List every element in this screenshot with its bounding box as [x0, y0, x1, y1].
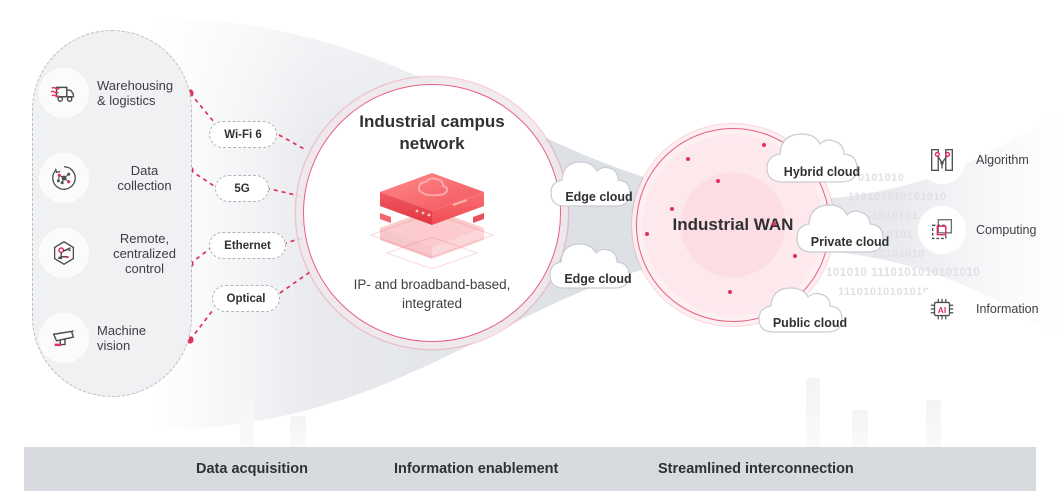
- cloud-edge-1[interactable]: Edge cloud: [549, 150, 649, 214]
- source-item-warehousing[interactable]: Warehousing & logistics: [40, 69, 192, 117]
- industrial-campus-network-node[interactable]: Industrial campus network: [303, 84, 561, 342]
- data-collection-icon: [40, 154, 88, 202]
- cloud-shape: [548, 232, 648, 296]
- cloud-hybrid[interactable]: Hybrid cloud: [765, 120, 879, 190]
- access-pill-optical[interactable]: Optical: [212, 285, 280, 312]
- access-pill-label: 5G: [234, 183, 249, 195]
- cloud-public[interactable]: Public cloud: [757, 276, 863, 340]
- cloud-label: Private cloud: [795, 235, 905, 249]
- capability-label: Information: [976, 302, 1039, 316]
- access-pill-wifi6[interactable]: Wi-Fi 6: [209, 121, 277, 148]
- bottom-bar-segment-information-enablement: Information enablement: [394, 461, 558, 477]
- capability-information[interactable]: AI Information: [918, 285, 1039, 333]
- source-item-remote-control[interactable]: Remote, centralized control: [40, 229, 192, 277]
- ai-chip-icon: AI: [918, 285, 966, 333]
- cloud-label: Edge cloud: [549, 190, 649, 204]
- cloud-label: Hybrid cloud: [765, 165, 879, 179]
- access-pill-5g[interactable]: 5G: [215, 175, 269, 202]
- source-label: Remote, centralized control: [97, 231, 192, 276]
- campus-subtitle: IP- and broadband-based, integrated: [304, 275, 560, 313]
- capability-label: Computing: [976, 223, 1036, 237]
- cloud-edge-2[interactable]: Edge cloud: [548, 232, 648, 296]
- wan-node-dot: [670, 207, 674, 211]
- access-pill-label: Wi-Fi 6: [224, 129, 262, 141]
- source-item-machine-vision[interactable]: Machine vision: [40, 314, 192, 362]
- server-stack-icon: [357, 161, 507, 279]
- cloud-shape: [757, 276, 863, 340]
- source-label: Warehousing & logistics: [97, 78, 192, 108]
- wan-node-dot: [686, 157, 690, 161]
- camera-icon: [40, 314, 88, 362]
- source-label: Machine vision: [97, 323, 192, 353]
- wan-node-dot: [772, 222, 776, 226]
- cloud-shape: [549, 150, 649, 214]
- computing-icon: [918, 206, 966, 254]
- wan-node-dot: [716, 179, 720, 183]
- bottom-bar-segment-streamlined-interconnection: Streamlined interconnection: [658, 461, 854, 477]
- access-pill-ethernet[interactable]: Ethernet: [209, 232, 286, 259]
- source-item-data-collection[interactable]: Data collection: [40, 154, 192, 202]
- cloud-label: Edge cloud: [548, 272, 648, 286]
- bottom-bar-segment-data-acquisition: Data acquisition: [196, 461, 308, 477]
- access-pill-label: Ethernet: [224, 240, 271, 252]
- cloud-label: Public cloud: [757, 316, 863, 330]
- algorithm-icon: [918, 136, 966, 184]
- wan-node-dot: [728, 290, 732, 294]
- capability-label: Algorithm: [976, 153, 1029, 167]
- robot-arm-icon: [40, 229, 88, 277]
- diagram-canvas: 0101010 110101010101010 1010101 10101 10…: [0, 0, 1060, 498]
- svg-text:AI: AI: [938, 305, 946, 315]
- campus-title: Industrial campus network: [304, 111, 560, 155]
- access-pill-label: Optical: [227, 293, 266, 305]
- cloud-shape: [795, 192, 905, 260]
- capability-computing[interactable]: Computing: [918, 206, 1036, 254]
- truck-icon: [40, 69, 88, 117]
- capability-algorithm[interactable]: Algorithm: [918, 136, 1029, 184]
- cloud-private[interactable]: Private cloud: [795, 192, 905, 260]
- cloud-shape: [765, 120, 879, 190]
- source-label: Data collection: [97, 163, 192, 193]
- bottom-bar: Data acquisition Information enablement …: [24, 447, 1036, 491]
